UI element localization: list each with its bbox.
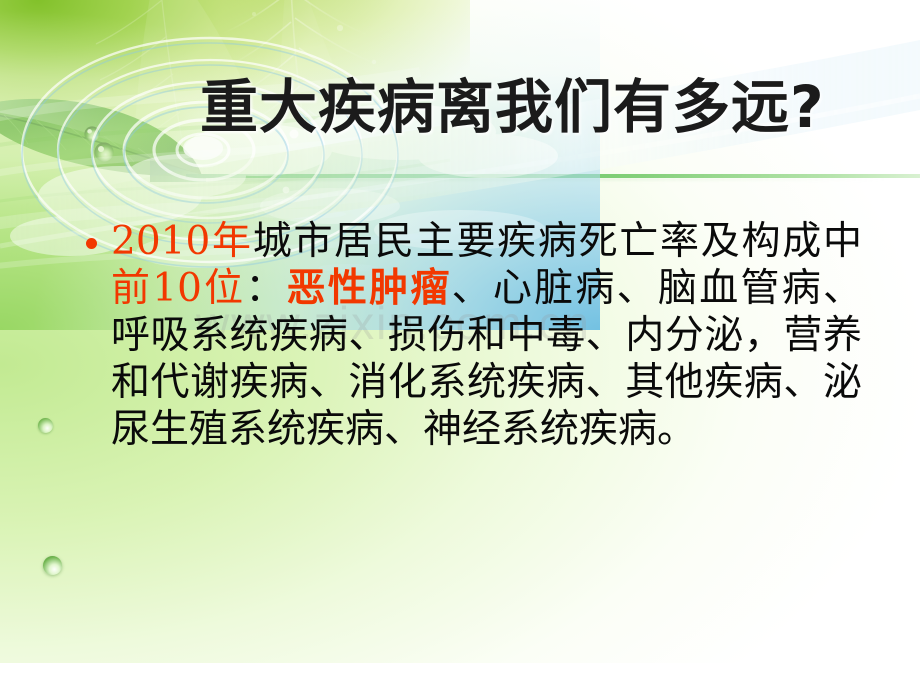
bullet-text-run-1: 城市居民主要疾病死亡率及构成中 — [253, 219, 862, 264]
title-divider-line — [186, 174, 920, 178]
bullet-text-run-2: 前10位 — [111, 266, 245, 311]
divider-shadow — [186, 178, 886, 181]
divider-wedge — [150, 160, 206, 182]
bullet-text-run-3: ： — [245, 266, 286, 311]
slide-title: 重大疾病离我们有多远? — [200, 78, 825, 136]
bullet-list-item: 2010年城市居民主要疾病死亡率及构成中前10位：恶性肿瘤、心脏病、脑血管病、呼… — [86, 218, 862, 453]
bullet-text-run-0: 2010年 — [111, 219, 253, 264]
slide-body: 2010年城市居民主要疾病死亡率及构成中前10位：恶性肿瘤、心脏病、脑血管病、呼… — [86, 218, 862, 453]
bullet-text-run-4: 恶性肿瘤 — [287, 265, 452, 311]
presentation-slide: www.zixin.com.cn 重大疾病离我们有多远? 2010年城市居民主要… — [0, 0, 920, 663]
water-droplet-left-icon — [38, 418, 53, 433]
bullet-item-text: 2010年城市居民主要疾病死亡率及构成中前10位：恶性肿瘤、心脏病、脑血管病、呼… — [111, 218, 862, 453]
leaf-icon — [0, 86, 230, 184]
bullet-dot-icon — [86, 238, 97, 249]
water-droplet-bottom-icon — [43, 556, 62, 575]
slide-bottom-margin — [0, 663, 920, 690]
